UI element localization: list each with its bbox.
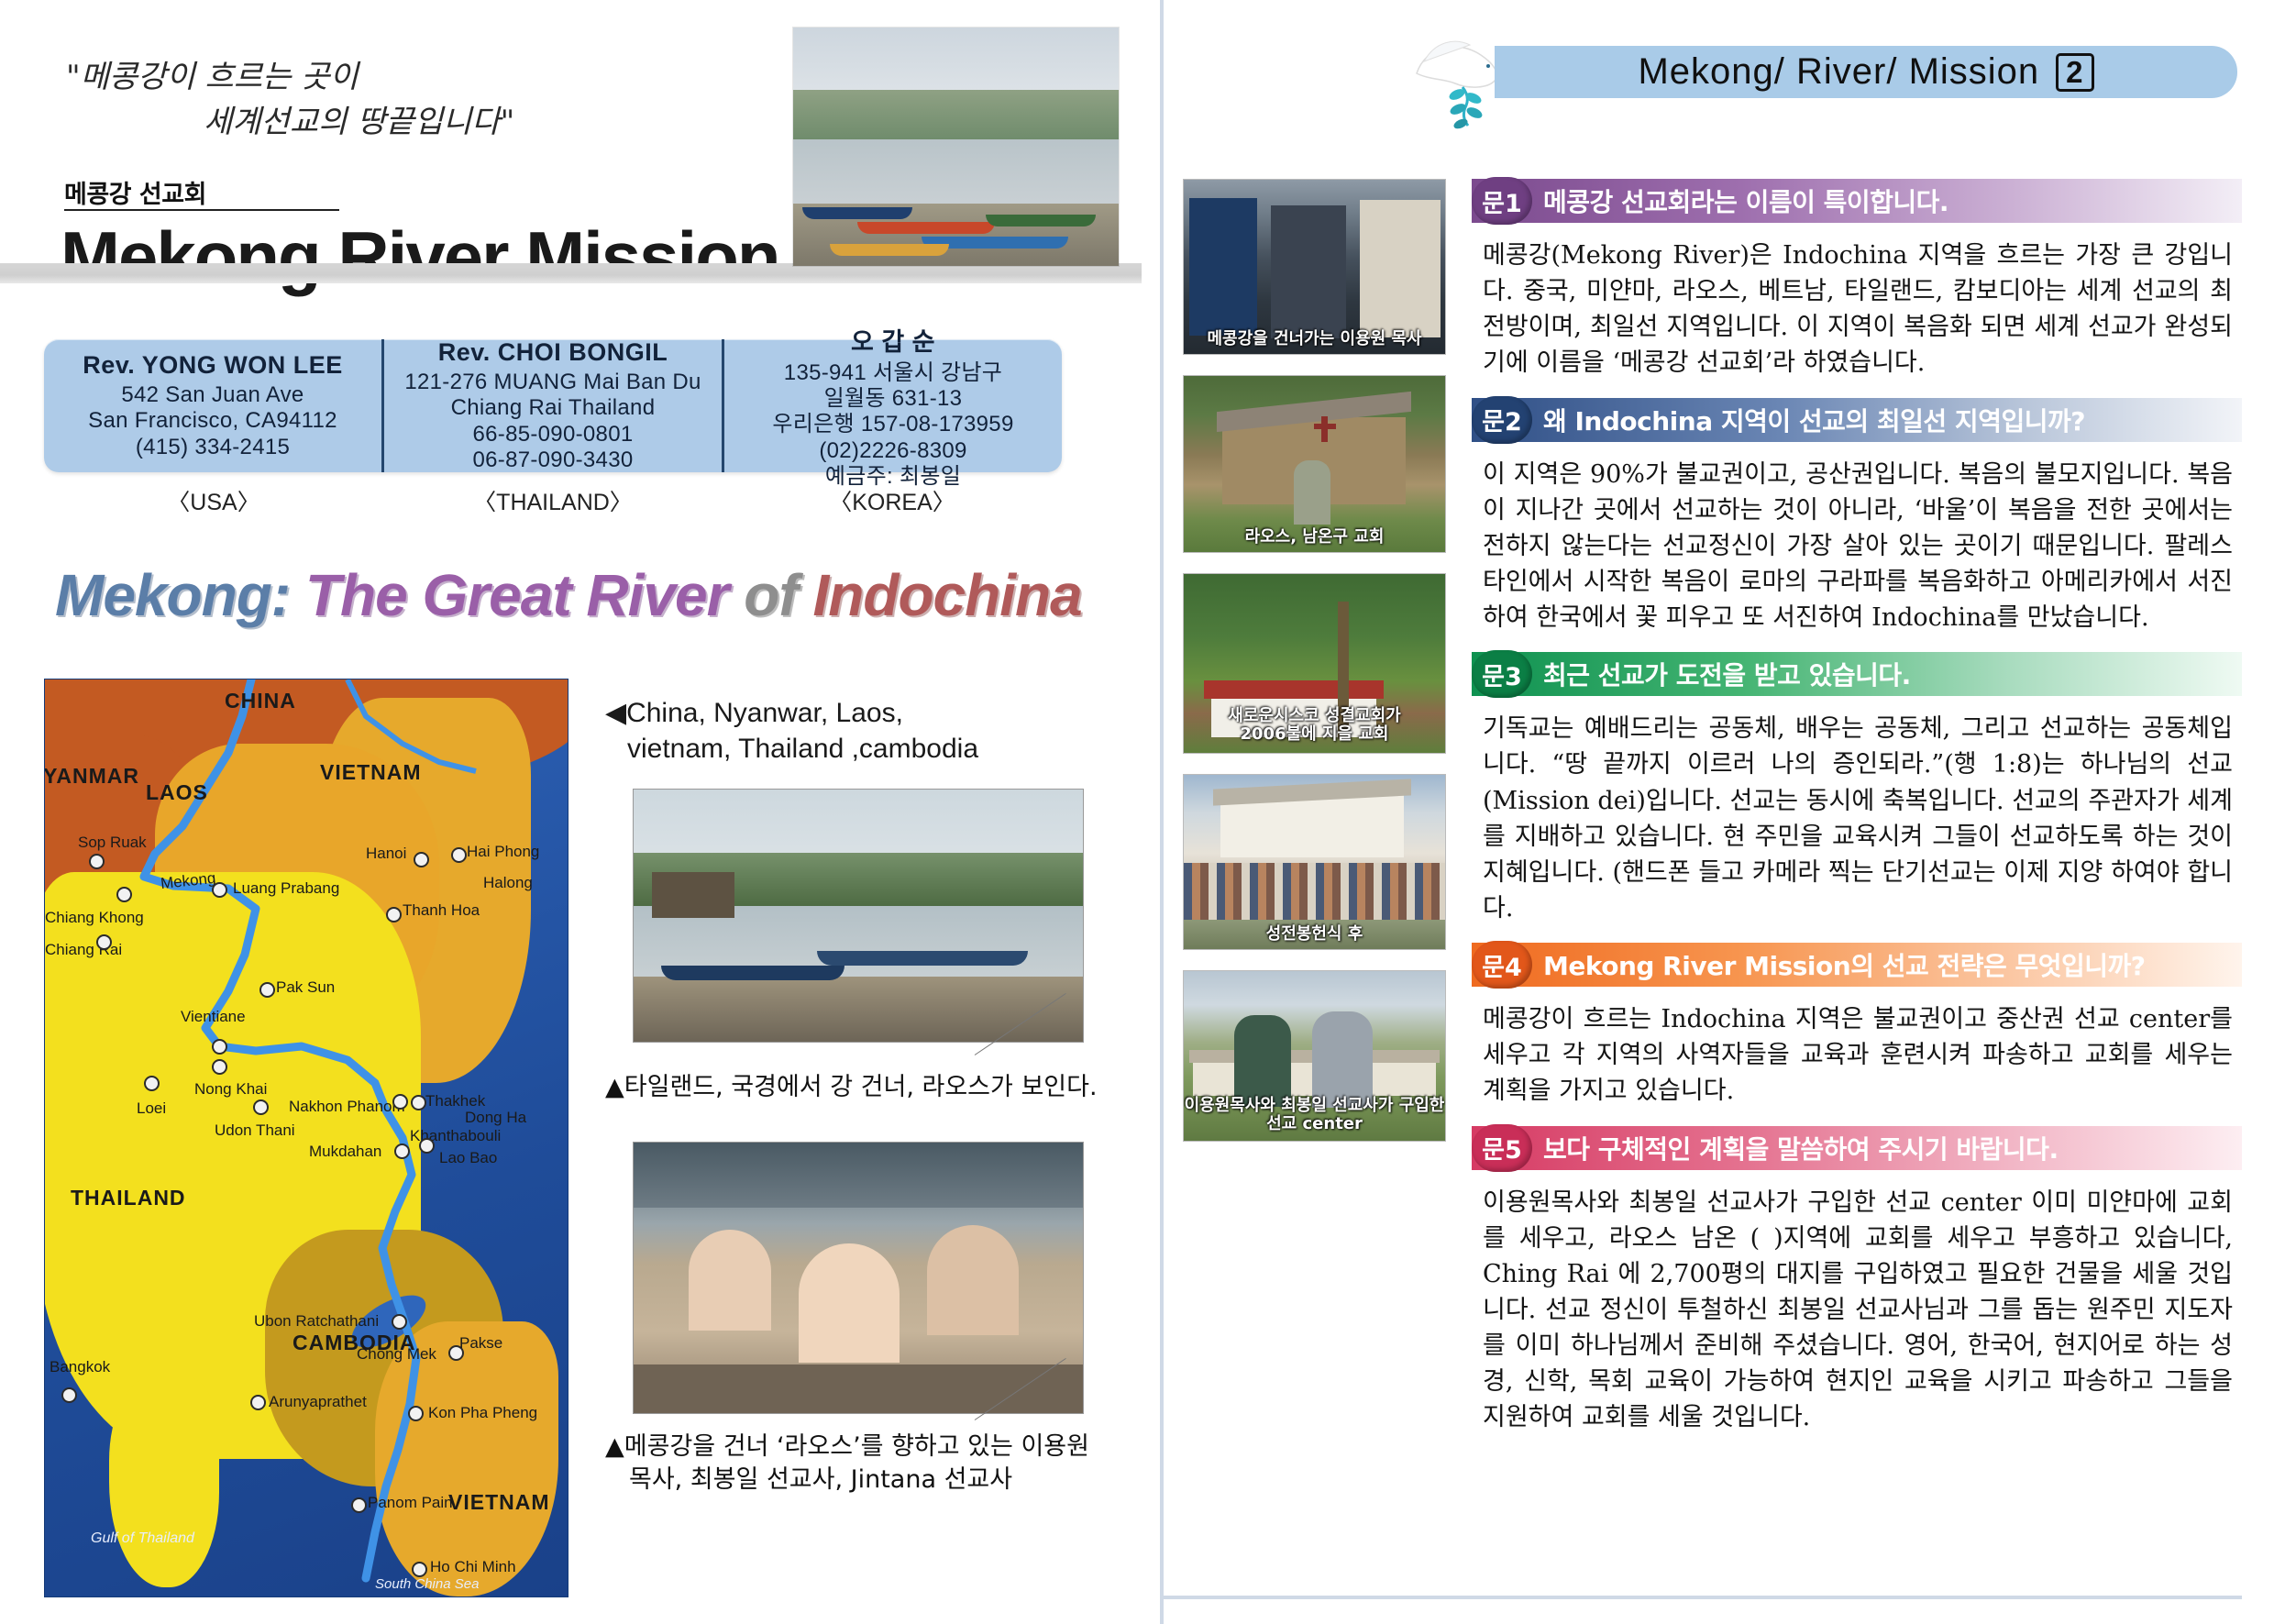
section-header-title: Mekong/ River/ Mission [1638,51,2039,93]
map-city-vientiane: Vientiane [181,1008,246,1026]
cross-icon [1321,416,1328,442]
map-city-dot [386,907,402,922]
photo-crossing-mekong: 메콩강을 건너가는 이용원 목사 [1183,179,1446,355]
map-city-nong-khai: Nong Khai [194,1080,267,1099]
map-label-gulf-of-thailand: Gulf of Thailand [91,1530,194,1547]
map-city-udon-thani: Udon Thani [215,1121,295,1140]
map-city-kon-pha-pheng: Kon Pha Pheng [428,1404,537,1422]
tagline-handwriting: "메콩강이 흐르는 곳이 세계선교의 땅끝입니다" [66,55,653,146]
map-city-thakhek: Thakhek [425,1092,485,1110]
photo-shore [634,977,1083,1043]
person-figure [1234,1015,1291,1107]
person-figure [1360,200,1441,337]
map-city-panom-pain: Panom Pain [368,1494,453,1512]
tagline-line-1: "메콩강이 흐르는 곳이 [66,59,359,95]
contact-country-row: 〈USA〉 〈THAILAND〉 〈KOREA〉 [44,484,1062,517]
photo-caption-line-2: 선교 center [1184,1115,1445,1133]
qa-header-5: 문5 보다 구체적인 계획을 말씀하여 주시기 바랍니다. [1472,1126,2242,1170]
contact-line: 135-941 서울시 강남구 [784,360,1002,386]
map-city-lao-bao: Lao Bao [439,1149,497,1167]
photo-caption-line-1: 새로운시스코 성결교회가 [1184,707,1445,725]
boat-icon [661,966,844,980]
photo-caption: 메콩강을 건너가는 이용원 목사 [1184,330,1445,348]
photo-laos-church: 라오스, 남온구 교회 [1183,375,1446,553]
page-title: Mekong River Mission [61,215,779,299]
map-city-hanoi: Hanoi [366,845,406,863]
page-left-rule [1160,0,1164,1624]
great-title-part-3: of [744,562,797,628]
indochina-map: CHINA MYANMAR LAOS VIETNAM THAILAND CAMB… [44,679,568,1597]
contact-line: (02)2226-8309 [819,438,966,464]
country-label-usa: 〈USA〉 [44,484,383,517]
contact-line: San Francisco, CA94112 [88,408,337,434]
photo-mission-center: 이용원목사와 최봉일 선교사가 구입한 선교 center [1183,970,1446,1142]
qa-question: 최근 선교가 도전을 받고 있습니다. [1543,656,1911,692]
caption-crossing-line-1: ▲메콩강을 건너 ‘라오스’를 향하고 있는 이용원 [605,1431,1119,1464]
map-city-mukdahan: Mukdahan [309,1143,381,1161]
photo-hills [793,90,1119,142]
brochure-page: "메콩강이 흐르는 곳이 세계선교의 땅끝입니다" 메콩강 선교회 Mekong… [0,0,2274,1624]
contact-name: Rev. YONG WON LEE [83,351,343,380]
map-city-dot [212,1059,227,1075]
qa-number-badge: 문4 [1472,941,1532,989]
map-label-vietnam-south: VIETNAM [448,1490,550,1515]
map-city-chong-mek: Chong Mek [357,1345,436,1364]
contact-usa: Rev. YONG WON LEE 542 San Juan Ave San F… [44,339,381,472]
map-city-dot [212,882,227,898]
map-city-dot [394,1143,410,1159]
great-title-part-4: Indochina [812,562,1081,628]
map-city-dot [392,1314,407,1330]
person-figure [799,1243,900,1363]
contact-line: 우리은행 157-08-173959 [772,412,1013,437]
country-label-thailand: 〈THAILAND〉 [383,484,723,517]
qa-number-badge: 문1 [1472,177,1532,225]
great-title-part-1: Mekong: [55,562,290,628]
photo-caption: 새로운시스코 성결교회가 2006불에 지을 교회 [1184,707,1445,744]
qa-header-2: 문2 왜 Indochina 지역이 선교의 최일선 지역입니까? [1472,398,2242,442]
qa-question: 왜 Indochina 지역이 선교의 최일선 지역입니까? [1543,402,2085,438]
map-city-loei: Loei [137,1099,166,1118]
boat-icon [802,207,912,219]
org-name-korean: 메콩강 선교회 [64,174,206,210]
qa-answer: 이 지역은 90%가 불교권이고, 공산권입니다. 복음의 불모지입니다. 복음… [1472,442,2242,642]
map-city-dot [408,1406,424,1421]
photo-canopy [634,1143,1083,1208]
great-river-title: Mekong: The Great River of Indochina [55,561,1109,649]
qa-header-4: 문4 Mekong River Mission의 선교 전략은 무엇입니까? [1472,943,2242,987]
map-city-pak-sun: Pak Sun [276,978,335,997]
photo-boat-group [633,1142,1084,1414]
map-city-dot [351,1497,367,1513]
caption-countries-line-2: vietnam, Thailand ,cambodia [627,731,1091,767]
photo-dedication-ceremony: 성전봉헌식 후 [1183,774,1446,950]
contact-line: 06-87-090-3430 [472,447,633,473]
contact-name: Rev. CHOI BONGIL [438,338,668,367]
boat-icon [857,222,995,234]
photo-caption: 이용원목사와 최봉일 선교사가 구입한 선교 center [1184,1097,1445,1133]
map-city-hai-phong: Hai Phong [467,843,539,861]
qa-answer: 메콩강이 흐르는 Indochina 지역은 불교권이고 중산권 선교 cent… [1472,987,2242,1114]
page-number-badge: 2 [2056,53,2093,92]
qa-question: 메콩강 선교회라는 이름이 특이합니다. [1543,182,1948,219]
qa-question: Mekong River Mission의 선교 전략은 무엇입니까? [1543,946,2146,983]
map-label-south-china-sea: South China Sea [375,1576,479,1592]
map-city-dot [96,934,112,950]
map-label-laos: LAOS [146,780,208,805]
right-page: Mekong/ River/ Mission 2 메콩강을 건너가는 이용원 목… [1142,0,2274,1624]
contact-line: 66-85-090-0801 [472,422,633,447]
header-grey-band [0,263,1142,283]
qa-block-5: 문5 보다 구체적인 계획을 말씀하여 주시기 바랍니다. 이용원목사와 최봉일… [1472,1126,2242,1442]
map-city-dot [414,852,429,867]
map-label-myanmar: MYANMAR [44,764,139,789]
map-city-halong: Halong [483,874,533,892]
map-city-dot [253,1099,269,1115]
tagline-line-2: 세계선교의 땅끝입니다" [204,100,653,145]
photo-new-church-2006: 새로운시스코 성결교회가 2006불에 지을 교회 [1183,573,1446,754]
qa-number-badge: 문5 [1472,1124,1532,1172]
map-city-sop-ruak: Sop Ruak [78,834,147,852]
photo-boat-floor [634,1364,1083,1413]
map-city-dot [392,1094,408,1110]
contact-line: Chiang Rai Thailand [451,395,656,421]
hero-photo-river-boats [793,28,1119,266]
qa-answer: 이용원목사와 최봉일 선교사가 구입한 선교 center 이미 미얀마에 교회… [1472,1170,2242,1442]
map-city-dot [212,1039,227,1055]
photo-caption: 라오스, 남온구 교회 [1184,528,1445,547]
map-city-ubon-ratchathani: Ubon Ratchathani [254,1312,379,1331]
person-figure [927,1225,1019,1335]
crowd-row [1184,863,1445,920]
map-city-nakhon-phanom: Nakhon Phanom [289,1098,405,1116]
map-city-bangkok: Bangkok [50,1358,110,1376]
qa-question: 보다 구체적인 계획을 말씀하여 주시기 바랍니다. [1543,1130,2059,1166]
person-figure [1271,205,1346,338]
map-city-dong-ha: Dong Ha [465,1109,526,1127]
caption-thailand-border: ▲타일랜드, 국경에서 강 건너, 라오스가 보인다. [605,1066,1105,1102]
contact-line: 121-276 MUANG Mai Ban Du [404,370,701,395]
section-header-bar: Mekong/ River/ Mission 2 [1495,46,2237,98]
map-city-dot [250,1395,266,1410]
contact-line: 일월동 631-13 [824,386,963,412]
qa-header-3: 문3 최근 선교가 도전을 받고 있습니다. [1472,652,2242,696]
map-city-arunyaprathet: Arunyaprathet [269,1393,367,1411]
photo-caption-line-1: 이용원목사와 최봉일 선교사가 구입한 [1184,1097,1445,1115]
qa-block-2: 문2 왜 Indochina 지역이 선교의 최일선 지역입니까? 이 지역은 … [1472,398,2242,642]
caption-crossing-line-2: 목사, 최봉일 선교사, Jintana 선교사 [629,1464,1119,1497]
map-city-dot [451,847,467,863]
left-page: "메콩강이 흐르는 곳이 세계선교의 땅끝입니다" 메콩강 선교회 Mekong… [0,0,1142,1624]
great-title-part-2: The Great River [305,562,729,628]
map-city-dot [412,1562,427,1577]
caption-countries: ◀China, Nyanwar, Laos, vietnam, Thailand… [605,695,1091,767]
section-header: Mekong/ River/ Mission 2 [1495,46,2237,98]
map-city-pakse: Pakse [459,1334,502,1353]
map-city-dot [259,982,275,998]
photo-caption: 성전봉헌식 후 [1184,925,1445,944]
church-building [1220,795,1404,857]
qa-block-3: 문3 최근 선교가 도전을 받고 있습니다. 기독교는 예배드리는 공동체, 배… [1472,652,2242,932]
qa-column: 문1 메콩강 선교회라는 이름이 특이합니다. 메콩강(Mekong River… [1472,179,2242,1453]
photo-caption-line-2: 2006불에 지을 교회 [1184,725,1445,744]
contact-korea: 오 갑 순 135-941 서울시 강남구 일월동 631-13 우리은행 15… [724,339,1062,472]
map-city-dot [89,854,105,869]
photo-thailand-border-view [633,789,1084,1043]
qa-answer: 메콩강(Mekong River)은 Indochina 지역을 흐르는 가장 … [1472,223,2242,387]
qa-number-badge: 문3 [1472,650,1532,698]
person-figure [1294,460,1330,525]
qa-header-1: 문1 메콩강 선교회라는 이름이 특이합니다. [1472,179,2242,223]
contact-thailand: Rev. CHOI BONGIL 121-276 MUANG Mai Ban D… [381,339,724,472]
contact-name: 오 갑 순 [851,322,935,358]
qa-answer: 기독교는 예배드리는 공동체, 배우는 공동체, 그리고 선교하는 공동체입니다… [1472,696,2242,932]
person-figure [1312,1011,1373,1108]
map-city-dot [116,887,132,902]
qa-number-badge: 문2 [1472,396,1532,444]
caption-countries-line-1: ◀China, Nyanwar, Laos, [605,695,1091,731]
page-bottom-rule [1160,1596,2242,1599]
cross-icon [1314,424,1336,429]
caption-crossing-mekong: ▲메콩강을 건너 ‘라오스’를 향하고 있는 이용원 목사, 최봉일 선교사, … [605,1431,1119,1497]
boat-icon [830,244,949,256]
photo-water [793,139,1119,206]
contact-info-box: Rev. YONG WON LEE 542 San Juan Ave San F… [44,339,1062,472]
map-city-luang-prabang: Luang Prabang [233,879,339,898]
person-figure [689,1230,771,1331]
qa-block-1: 문1 메콩강 선교회라는 이름이 특이합니다. 메콩강(Mekong River… [1472,179,2242,387]
right-photo-column: 메콩강을 건너가는 이용원 목사 라오스, 남온구 교회 새로운시스코 성결교회… [1183,179,1444,1162]
boat-icon [986,215,1096,226]
org-name-underline [64,209,339,211]
contact-line: 542 San Juan Ave [121,382,304,408]
church-roof [1204,680,1384,699]
map-label-china: CHINA [225,689,296,713]
country-label-korea: 〈KOREA〉 [723,484,1062,517]
hut-icon [652,872,734,918]
map-city-ho-chi-minh: Ho Chi Minh [430,1558,516,1576]
person-figure [1189,198,1257,336]
map-city-thanh-hoa: Thanh Hoa [403,901,480,920]
map-city-dot [419,1138,435,1154]
map-label-vietnam: VIETNAM [320,760,422,785]
map-city-dot [411,1095,426,1110]
qa-block-4: 문4 Mekong River Mission의 선교 전략은 무엇입니까? 메… [1472,943,2242,1114]
map-city-dot [61,1387,77,1403]
boat-icon [817,951,1028,966]
map-city-chiang-khong: Chiang Khong [45,909,144,927]
map-city-dot [144,1076,160,1091]
map-label-thailand: THAILAND [71,1186,186,1210]
contact-line: (415) 334-2415 [136,435,290,460]
